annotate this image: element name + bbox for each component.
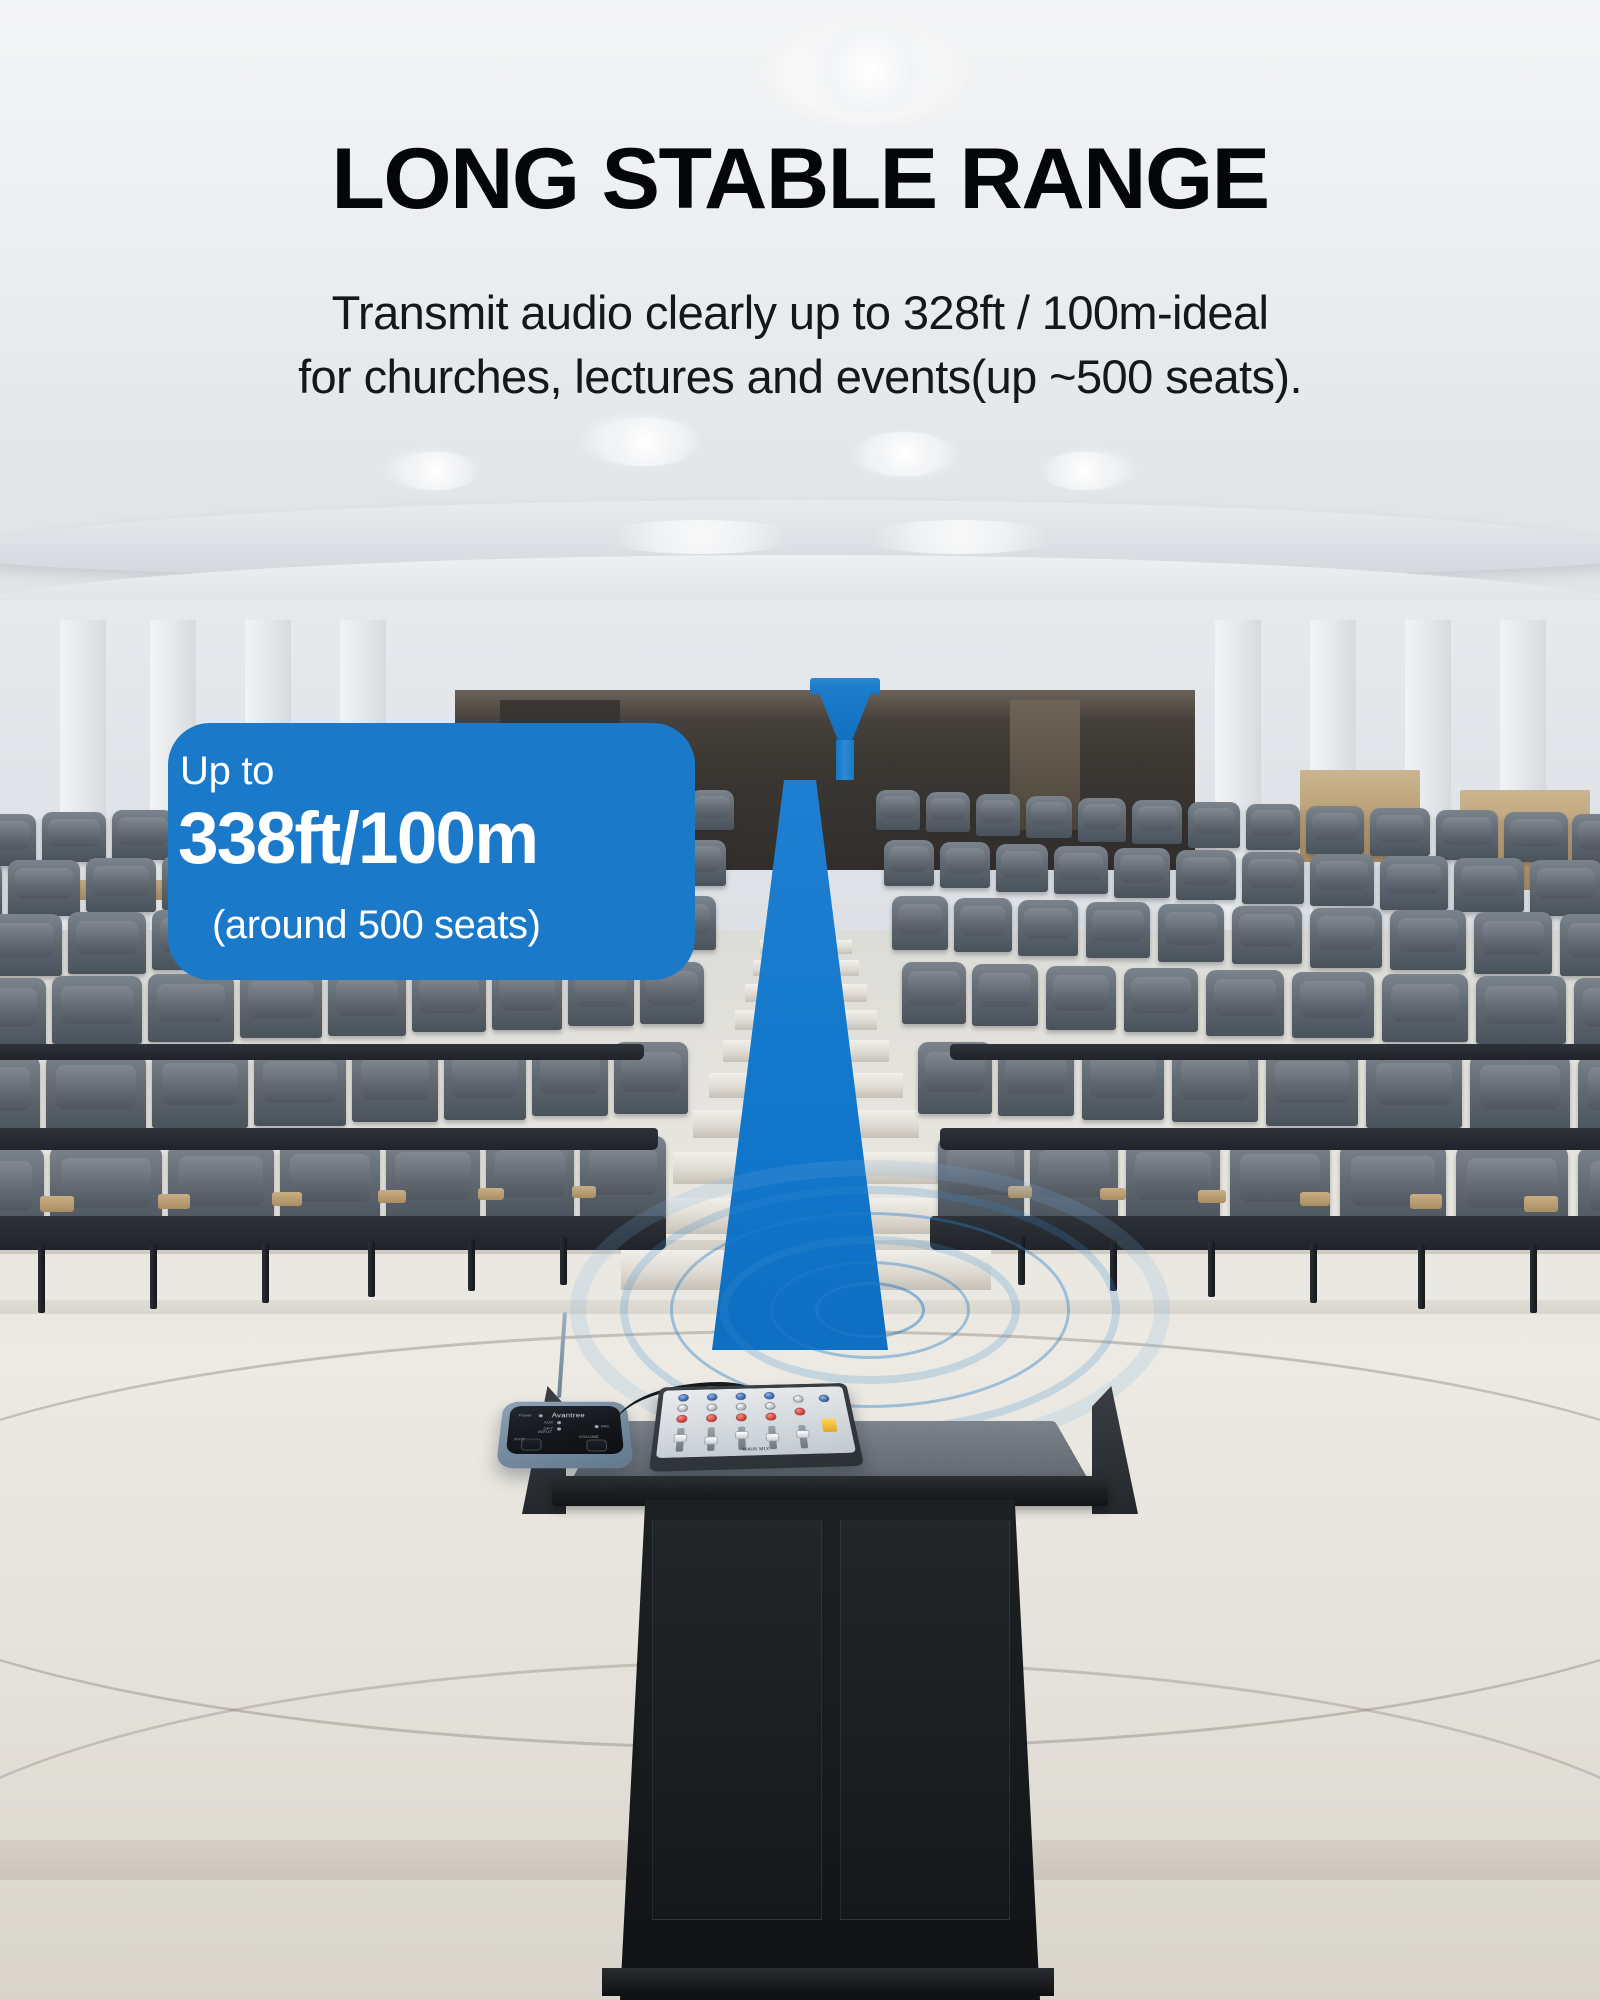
ceiling-light <box>860 520 1060 554</box>
stair-step <box>649 1198 963 1234</box>
auditorium-seat <box>902 962 966 1024</box>
ceiling-light <box>392 452 480 490</box>
mixer-eq-knob[interactable] <box>706 1403 717 1411</box>
seat-armrest <box>378 1190 406 1203</box>
transmitter-mic-label: MIC <box>601 1424 610 1428</box>
transmitter-input-button[interactable] <box>520 1439 541 1451</box>
auditorium-seat <box>1366 1052 1462 1128</box>
mixer-channel-strip <box>666 1392 697 1458</box>
mixer-fader-cap[interactable] <box>735 1431 748 1439</box>
mixer-fader-cap[interactable] <box>796 1430 810 1438</box>
mixer-eq-knob[interactable] <box>765 1402 776 1410</box>
auditorium-seat <box>1504 812 1568 862</box>
mixer-channel-strip <box>786 1390 820 1455</box>
mixer-fader-cap[interactable] <box>673 1434 687 1442</box>
mixer-meter-display <box>821 1418 837 1432</box>
auditorium-seat <box>86 858 156 912</box>
auditorium-seat <box>1306 806 1364 854</box>
auditorium-seat <box>1382 974 1468 1042</box>
subtitle-line-1: Transmit audio clearly up to 328ft / 100… <box>0 281 1600 345</box>
mixer-gain-knob[interactable] <box>678 1394 689 1402</box>
seat-armrest <box>1300 1192 1330 1206</box>
seat-leg <box>560 1237 567 1285</box>
auditorium-seat <box>1310 908 1382 968</box>
mixer-eq-knob[interactable] <box>736 1403 747 1411</box>
auditorium-seat <box>1474 912 1552 974</box>
auditorium-seat <box>1560 914 1600 976</box>
transmitter-front-panel: Avantree Power AUX OPT INPUT VOLUME PAIR… <box>506 1406 624 1454</box>
mixer-eq-knob[interactable] <box>793 1395 804 1403</box>
ceiling-light <box>590 418 700 466</box>
mixer-gain-knob[interactable] <box>764 1392 775 1400</box>
seat-leg <box>1530 1245 1537 1313</box>
auditorium-seat <box>112 810 174 860</box>
mixer-aux-knob[interactable] <box>794 1408 806 1416</box>
auditorium-seat <box>386 1140 480 1226</box>
auditorium-seat <box>1030 1138 1118 1222</box>
podium-panel-left <box>652 1520 822 1920</box>
mixer-fader-cap[interactable] <box>766 1433 780 1441</box>
seat-armrest <box>1410 1194 1442 1209</box>
auditorium-seat <box>1176 850 1236 900</box>
seat-leg <box>262 1243 269 1303</box>
auditorium-seat <box>1206 970 1284 1036</box>
mixer-fader-cap[interactable] <box>704 1436 718 1444</box>
auditorium-seat <box>1188 802 1240 848</box>
transmitter-volume-button[interactable] <box>586 1440 607 1452</box>
auditorium-seat <box>486 1138 574 1222</box>
power-led <box>538 1415 542 1418</box>
transmitter-aux-label: AUX <box>544 1420 554 1424</box>
seat-leg <box>468 1239 475 1291</box>
auditorium-seat <box>1126 1140 1220 1226</box>
seat-leg <box>150 1245 157 1309</box>
mic-led <box>594 1425 598 1428</box>
auditorium-seat <box>1132 800 1182 844</box>
auditorium-seat <box>0 1056 40 1134</box>
auditorium-seat <box>690 790 734 830</box>
stair-step <box>753 960 859 976</box>
auditorium-seat <box>1114 848 1170 898</box>
stair-step <box>760 940 852 954</box>
seat-armrest <box>572 1186 596 1198</box>
auditorium-seat <box>1158 904 1224 962</box>
auditorium-seat <box>1026 796 1072 838</box>
brand-logo-text: Avantree <box>552 1412 585 1419</box>
auditorium-seat <box>1572 814 1600 866</box>
auditorium-seat <box>954 898 1012 952</box>
auditorium-seat <box>1530 860 1600 916</box>
mixer-aux-knob[interactable] <box>676 1415 688 1423</box>
seat-leg <box>1208 1241 1215 1297</box>
transmitter-input-label: INPUT <box>538 1430 553 1434</box>
auditorium-seat <box>1454 858 1524 912</box>
seat-leg <box>1110 1239 1117 1291</box>
auditorium-seat <box>42 812 106 862</box>
auditorium-seat <box>884 840 934 886</box>
auditorium-seat <box>996 844 1048 892</box>
ceiling-light <box>790 25 950 115</box>
auditorium-seat <box>1124 968 1198 1032</box>
auditorium-seat <box>254 1050 346 1126</box>
seat-armrest <box>1008 1186 1032 1198</box>
seat-armrest <box>158 1194 190 1209</box>
auditorium-seat <box>1578 1056 1600 1134</box>
auditorium-seat <box>152 1052 248 1128</box>
ceiling-speaker-stem <box>836 740 854 780</box>
mixer-aux-knob[interactable] <box>765 1413 776 1421</box>
auditorium-seat <box>1246 804 1300 850</box>
stair-step <box>735 1010 877 1030</box>
transmitter-power-label: Power <box>519 1413 533 1417</box>
seat-armrest <box>1100 1188 1126 1200</box>
auditorium-seat <box>1436 810 1498 860</box>
mixer-gain-knob[interactable] <box>707 1393 718 1401</box>
auditorium-seat <box>1292 972 1374 1038</box>
seat-row-base <box>930 1216 1600 1250</box>
auditorium-seat <box>52 976 142 1044</box>
opt-led <box>557 1428 561 1431</box>
stair-step <box>709 1073 903 1098</box>
auditorium-seat <box>876 790 920 830</box>
auditorium-seat <box>1266 1050 1358 1126</box>
mixer-channel-strip <box>698 1392 726 1458</box>
seat-row-base <box>0 1128 658 1150</box>
range-badge-value: 338ft/100m <box>178 798 537 880</box>
auditorium-seat <box>0 978 46 1048</box>
mixer-eq-knob[interactable] <box>677 1404 688 1412</box>
seat-armrest <box>478 1188 504 1200</box>
auditorium-seat <box>1574 978 1600 1048</box>
stair-step <box>745 984 867 1002</box>
auditorium-seat <box>1310 854 1374 906</box>
auditorium-seat <box>1078 798 1126 842</box>
auditorium-seat <box>1046 966 1116 1030</box>
auditorium-seat <box>8 860 80 916</box>
seat-armrest <box>40 1196 74 1212</box>
ceiling-light <box>855 432 955 476</box>
product-feature-banner: Avantree Power AUX OPT INPUT VOLUME PAIR… <box>0 0 1600 2000</box>
mixer-aux-knob[interactable] <box>706 1414 717 1422</box>
audio-mixer-device: MAIN MIX <box>649 1383 864 1472</box>
auditorium-seat <box>1018 900 1078 956</box>
seat-row-base <box>0 1044 644 1060</box>
transmitter-volume-label: VOLUME <box>579 1435 600 1439</box>
seat-leg <box>1310 1243 1317 1303</box>
stair-step <box>723 1040 889 1062</box>
mixer-master-knob[interactable] <box>818 1395 830 1403</box>
seat-armrest <box>1198 1190 1226 1203</box>
ceiling-light <box>1040 452 1128 490</box>
auditorium-seat <box>240 972 322 1038</box>
mixer-main-mix-label: MAIN MIX <box>743 1447 770 1453</box>
auditorium-seat <box>972 964 1038 1026</box>
mixer-control-panel: MAIN MIX <box>656 1386 856 1458</box>
bluetooth-transmitter-device: Avantree Power AUX OPT INPUT VOLUME PAIR… <box>496 1402 634 1469</box>
auditorium-seat <box>976 794 1020 836</box>
auditorium-seat <box>68 912 146 974</box>
podium-panel-right <box>840 1520 1010 1920</box>
mixer-aux-knob[interactable] <box>736 1413 747 1421</box>
seat-armrest <box>272 1192 302 1206</box>
seat-leg <box>1418 1245 1425 1309</box>
stair-step <box>673 1152 939 1184</box>
seat-leg <box>1018 1237 1025 1285</box>
mixer-gain-knob[interactable] <box>736 1393 747 1401</box>
auditorium-seat <box>926 792 970 832</box>
auditorium-seat <box>1390 910 1466 970</box>
seat-leg <box>38 1245 45 1313</box>
ceiling-light <box>600 520 800 554</box>
seat-row-base <box>940 1128 1600 1150</box>
range-badge-note: (around 500 seats) <box>212 900 541 950</box>
auditorium-seat <box>1232 906 1302 964</box>
auditorium-seat <box>1470 1054 1570 1132</box>
podium-base-plinth <box>602 1968 1054 1996</box>
auditorium-seat <box>0 914 62 976</box>
auditorium-seat <box>1476 976 1566 1044</box>
auditorium-seat <box>1242 852 1304 904</box>
subtitle-line-2: for churches, lectures and events(up ~50… <box>0 345 1600 409</box>
auditorium-seat <box>148 974 234 1042</box>
stair-step <box>621 1250 991 1290</box>
auditorium-seat <box>46 1054 146 1132</box>
seat-row-base <box>950 1044 1600 1060</box>
auditorium-seat <box>0 814 36 866</box>
auditorium-seat <box>892 896 948 950</box>
range-badge-prefix: Up to <box>180 748 274 794</box>
seat-leg <box>368 1241 375 1297</box>
auditorium-seat <box>1370 808 1430 856</box>
auditorium-seat <box>1054 846 1108 894</box>
auditorium-seat <box>0 862 2 918</box>
seat-armrest <box>1524 1196 1558 1212</box>
aux-led <box>557 1421 561 1424</box>
auditorium-seat <box>1086 902 1150 958</box>
page-subtitle: Transmit audio clearly up to 328ft / 100… <box>0 281 1600 409</box>
auditorium-seat <box>1380 856 1448 910</box>
page-title: LONG STABLE RANGE <box>0 133 1600 225</box>
auditorium-seat <box>940 842 990 888</box>
stair-step <box>693 1110 919 1138</box>
